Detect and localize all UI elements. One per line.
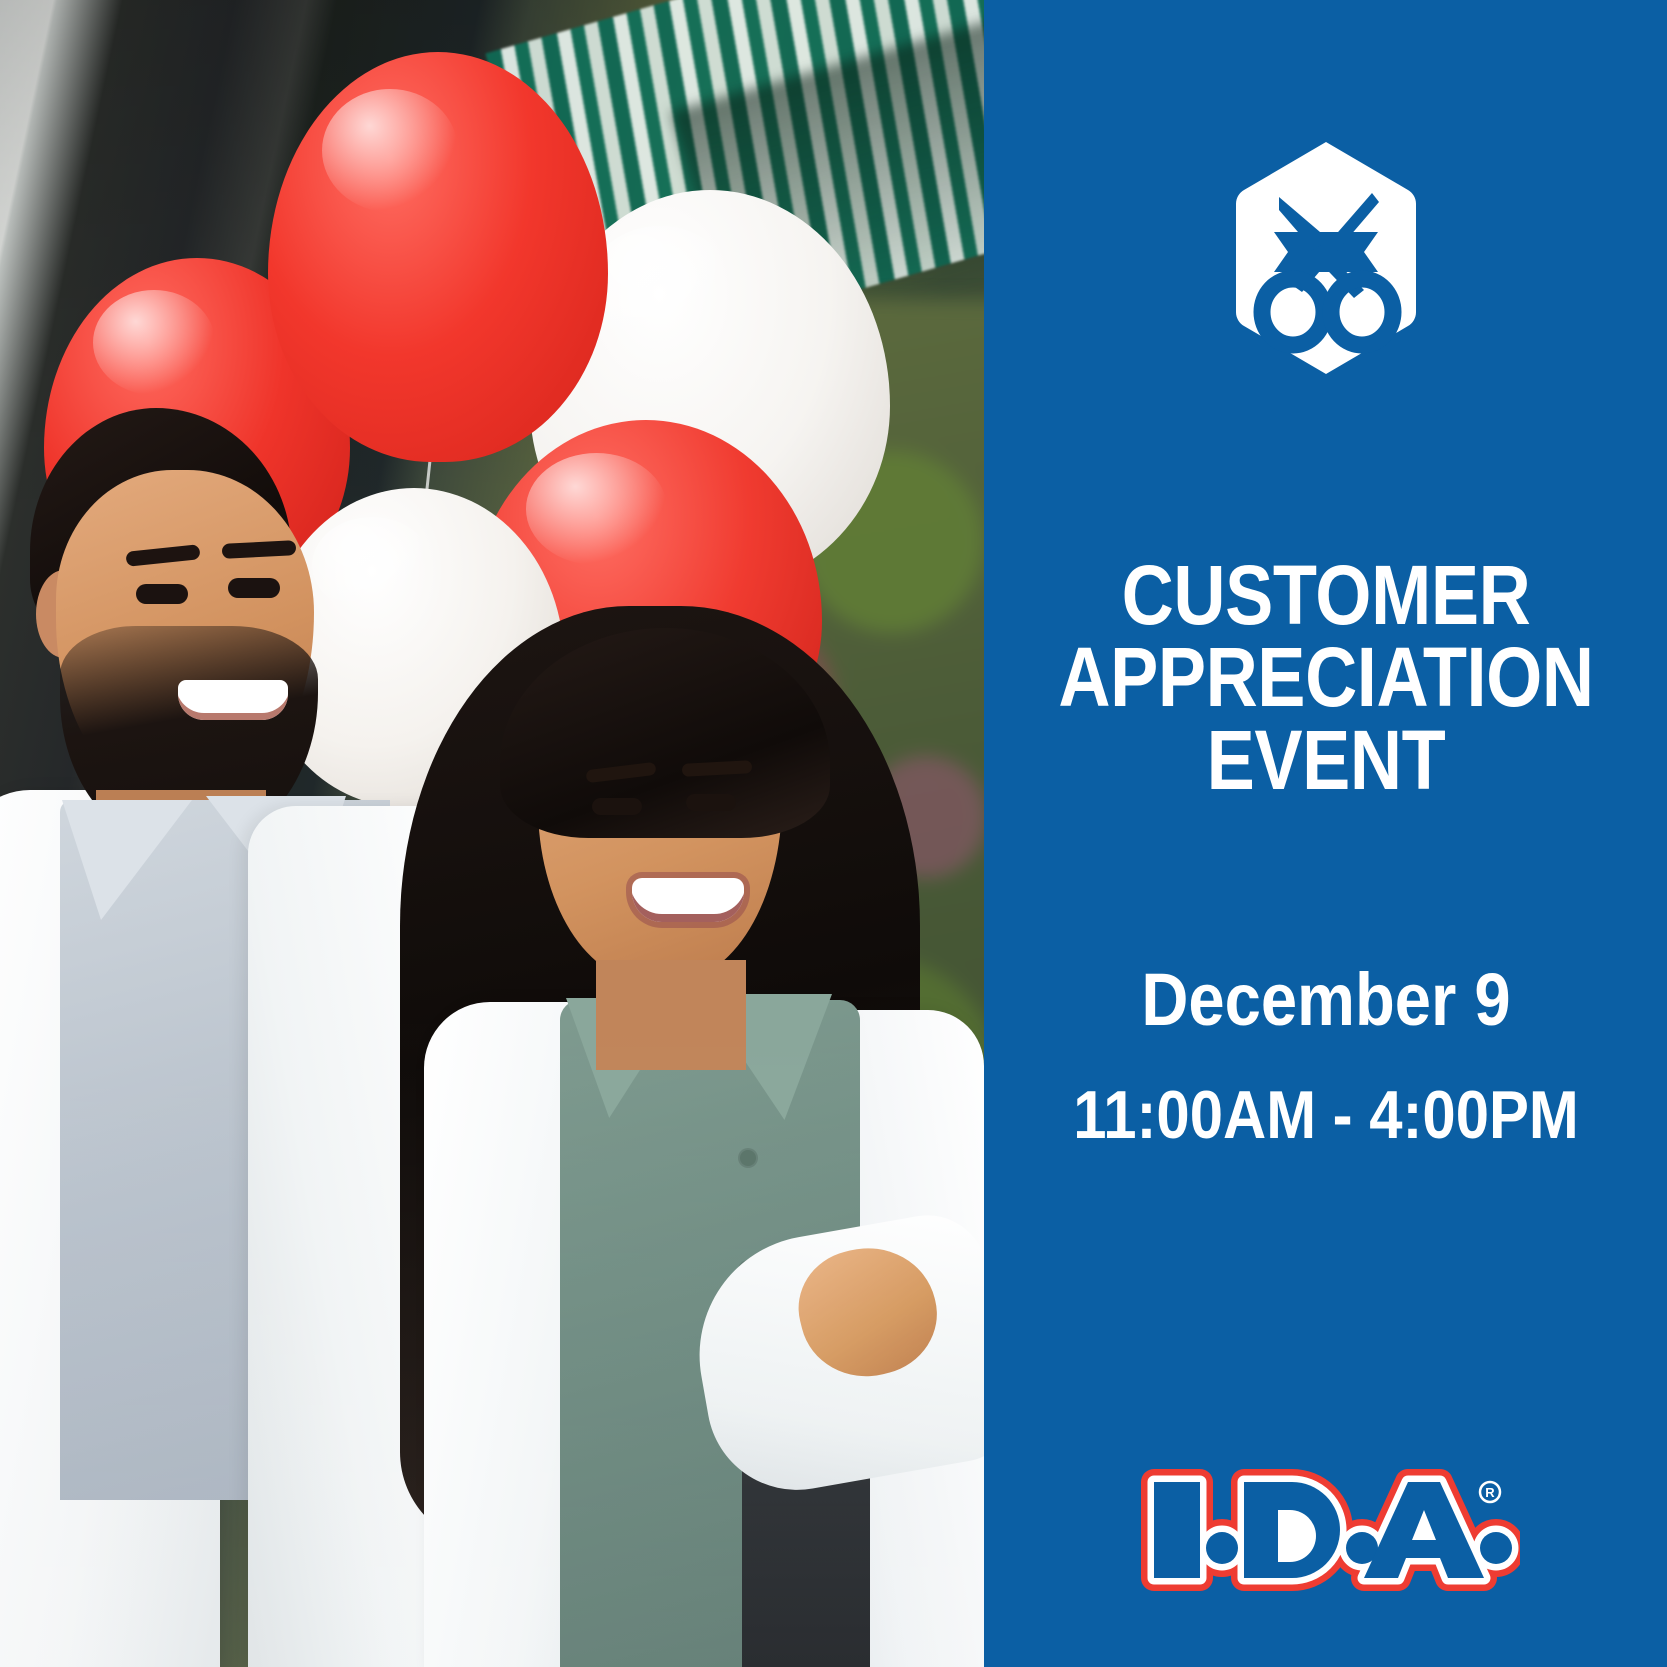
smile [632,878,744,922]
info-panel: CUSTOMER APPRECIATION EVENT December 9 1… [984,0,1667,1667]
neck [596,960,746,1070]
smile [178,680,288,720]
headline-line-3: EVENT [1050,719,1600,801]
event-photo [0,0,984,1667]
registered-trademark: R [1480,1482,1500,1502]
eye [228,578,280,598]
event-details: December 9 11:00AM - 4:00PM [1006,963,1646,1149]
headline-line-2: APPRECIATION [1050,636,1600,718]
eye [136,584,188,604]
ribbon-cutting-scissors-hexagon-icon [1236,140,1416,376]
event-date: December 9 [1044,963,1607,1037]
eye [686,794,736,811]
blouse-button [740,1150,756,1166]
event-time: 11:00AM - 4:00PM [1044,1081,1607,1149]
eye [592,798,642,815]
svg-text:R: R [1485,1485,1495,1500]
promotional-poster: CUSTOMER APPRECIATION EVENT December 9 1… [0,0,1667,1667]
page-title: CUSTOMER APPRECIATION EVENT [1050,554,1600,801]
headline-line-1: CUSTOMER [1050,554,1600,636]
ida-pharmacy-logo: R [1140,1466,1520,1596]
